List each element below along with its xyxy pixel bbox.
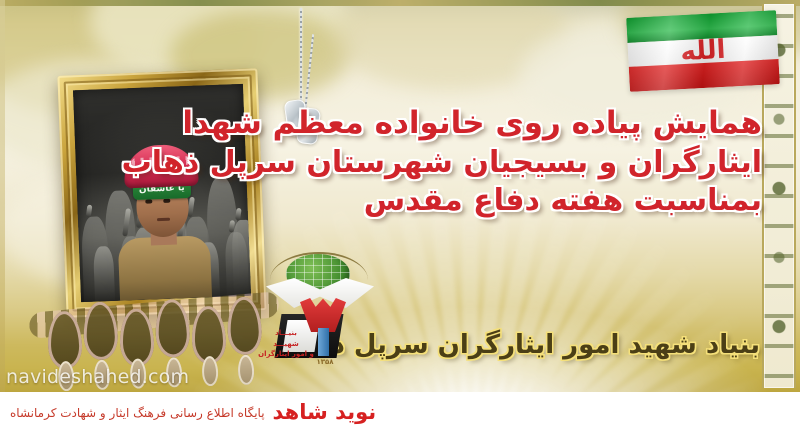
emblem-caption-line-2: شهیـــد — [258, 339, 314, 350]
sunburst-ray — [467, 370, 779, 392]
bonyad-shahid-emblem-icon: بنیـــاد شهیـــد و امور ایثارگران ۱۳۵۸ — [262, 252, 380, 370]
ornament-left-edge — [0, 0, 5, 392]
site-watermark: navideshahed.com — [6, 366, 189, 388]
raised-arm — [235, 207, 242, 220]
headline-line-3: بمناسبت هفته دفاع مقدس — [242, 182, 762, 220]
emblem-year: ۱۳۵۸ — [302, 358, 348, 366]
sunburst-ray — [464, 255, 702, 392]
headline-line-1: همایش پیاده روی خانواده معظم شهدا — [242, 104, 762, 144]
soldier-eye — [163, 199, 170, 203]
emblem-stem — [318, 328, 329, 356]
cloud-decoration — [330, 0, 570, 90]
site-footer: نوید شاهد پایگاه اطلاع رسانی فرهنگ ایثار… — [0, 392, 800, 433]
ornament-drop — [238, 355, 255, 386]
emblem-caption: بنیـــاد شهیـــد و امور ایثارگران — [258, 328, 314, 360]
headline-line-2: ایثارگران و بسیجیان شهرستان سرپل ذهاب — [242, 144, 762, 182]
sunburst-ray — [464, 232, 676, 392]
sunburst-ray — [463, 213, 647, 392]
event-banner: الله یا عاشقان — [0, 0, 800, 392]
sunburst-ray — [463, 197, 616, 392]
headline-block: همایش پیاده روی خانواده معظم شهدا ایثارگ… — [242, 104, 762, 220]
flag-wave-shading — [626, 10, 780, 92]
soldier-eye — [145, 199, 152, 203]
soldier-mouth — [157, 218, 170, 221]
iran-flag-icon: الله — [626, 10, 780, 92]
banner-screenshot: الله یا عاشقان — [0, 0, 800, 433]
dog-tag-chain — [304, 34, 314, 114]
footer-tagline: پایگاه اطلاع رسانی فرهنگ ایثار و شهادت ک… — [10, 406, 265, 420]
raised-arm — [85, 205, 92, 218]
navideshahed-logo[interactable]: نوید شاهد — [273, 402, 377, 423]
ornament-top-strip — [0, 0, 800, 6]
dog-tag-chain — [300, 8, 302, 104]
emblem-caption-line-1: بنیـــاد — [258, 328, 314, 339]
